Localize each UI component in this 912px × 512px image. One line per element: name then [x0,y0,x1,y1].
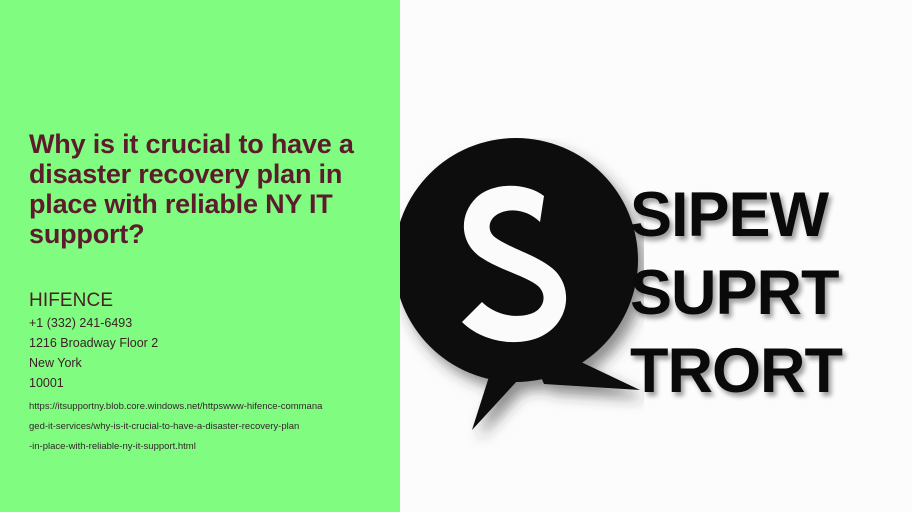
contact-block: HIFENCE +1 (332) 241-6493 1216 Broadway … [29,289,389,393]
promo-card: Why is it crucial to have a disaster rec… [0,0,912,512]
right-logo-panel: SIPEW SUPRT TRORT [400,0,912,512]
page-title: Why is it crucial to have a disaster rec… [29,129,379,249]
source-url[interactable]: https://itsupportny.blob.core.windows.ne… [29,397,377,457]
contact-zip: 10001 [29,373,389,393]
brand-line-2: SUPRT [630,254,912,332]
contact-city: New York [29,353,389,373]
source-url-line-3: -in-place-with-reliable-ny-it-support.ht… [29,437,377,457]
company-name: HIFENCE [29,289,389,313]
brand-line-3: TRORT [630,332,912,410]
speech-bubble-s-logo-icon [400,138,644,448]
brand-line-1: SIPEW [630,176,912,254]
brand-wordmark: SIPEW SUPRT TRORT [630,176,912,410]
source-url-line-2: ged-it-services/why-is-it-crucial-to-hav… [29,417,377,437]
contact-street: 1216 Broadway Floor 2 [29,333,389,353]
source-url-line-1: https://itsupportny.blob.core.windows.ne… [29,397,377,417]
contact-phone[interactable]: +1 (332) 241-6493 [29,313,389,333]
left-content-panel: Why is it crucial to have a disaster rec… [0,0,400,512]
